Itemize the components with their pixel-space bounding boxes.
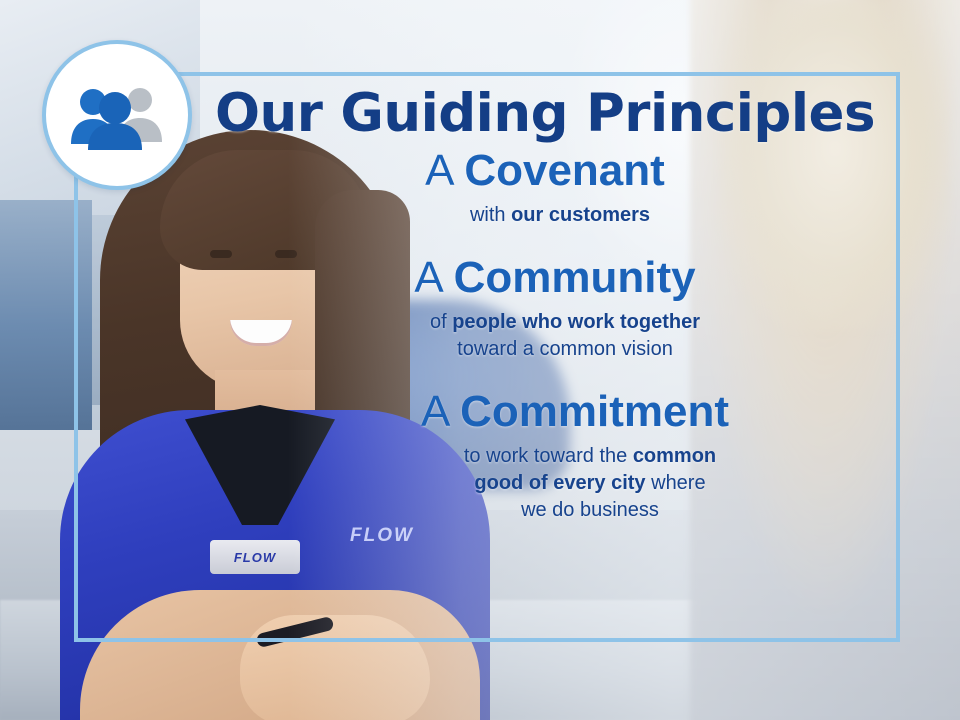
poster-canvas: FLOW FLOW Our Guiding Principles A Coven… xyxy=(0,0,960,720)
page-title: Our Guiding Principles xyxy=(200,86,890,142)
principles-content: Our Guiding Principles A Covenant with o… xyxy=(200,86,890,524)
principle-community-heading: A Community xyxy=(200,255,890,301)
people-group-icon xyxy=(69,78,165,152)
principle-community-sub-line2: toward a common vision xyxy=(457,338,673,360)
principle-commitment: A Commitment to work toward the common g… xyxy=(200,389,890,524)
principle-covenant-sub-bold: our customers xyxy=(511,204,650,226)
principle-covenant-article: A xyxy=(425,146,464,195)
principle-community-article: A xyxy=(414,253,453,302)
principle-covenant-heading: A Covenant xyxy=(200,148,890,194)
principle-community-sub-prefix: of xyxy=(430,311,452,333)
principle-commitment-keyword: Commitment xyxy=(460,387,729,436)
principle-commitment-article: A xyxy=(421,387,460,436)
principle-covenant-subtext: with our customers xyxy=(200,202,890,229)
people-group-icon-badge xyxy=(42,40,192,190)
principle-covenant-keyword: Covenant xyxy=(464,146,664,195)
principle-community-sub-bold: people who work together xyxy=(452,311,700,333)
employee-chest-logo: FLOW xyxy=(350,525,414,547)
employee-name-badge: FLOW xyxy=(210,540,300,574)
name-badge-text: FLOW xyxy=(234,550,276,565)
principle-commitment-sub-bold: common xyxy=(633,445,716,467)
principle-community-keyword: Community xyxy=(454,253,696,302)
principle-commitment-subtext: to work toward the common good of every … xyxy=(200,443,890,524)
principle-commitment-sub-line2-bold: good of every city xyxy=(474,472,645,494)
principle-commitment-sub-prefix: to work toward the xyxy=(464,445,633,467)
principle-covenant: A Covenant with our customers xyxy=(200,148,890,229)
principle-commitment-sub-line3: we do business xyxy=(521,499,659,521)
principle-community: A Community of people who work together … xyxy=(200,255,890,363)
principle-commitment-heading: A Commitment xyxy=(200,389,890,435)
principle-commitment-sub-line2-tail: where xyxy=(646,472,706,494)
principle-covenant-sub-prefix: with xyxy=(470,204,511,226)
principle-community-subtext: of people who work together toward a com… xyxy=(200,309,890,363)
